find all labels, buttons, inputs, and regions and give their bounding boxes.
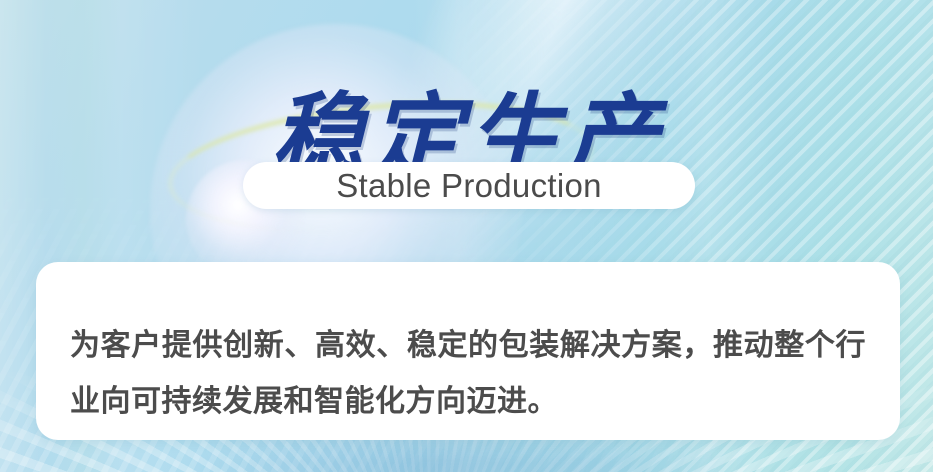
description-text: 为客户提供创新、高效、稳定的包装解决方案，推动整个行业向可持续发展和智能化方向迈… bbox=[70, 318, 866, 430]
banner-content: 稳定生产 Stable Production 为客户提供创新、高效、稳定的包装解… bbox=[0, 0, 933, 472]
subtitle-text: Stable Production bbox=[336, 169, 602, 203]
description-card: 为客户提供创新、高效、稳定的包装解决方案，推动整个行业向可持续发展和智能化方向迈… bbox=[36, 262, 900, 440]
stable-production-banner: 稳定生产 Stable Production 为客户提供创新、高效、稳定的包装解… bbox=[0, 0, 933, 472]
subtitle-pill: Stable Production bbox=[243, 162, 695, 209]
